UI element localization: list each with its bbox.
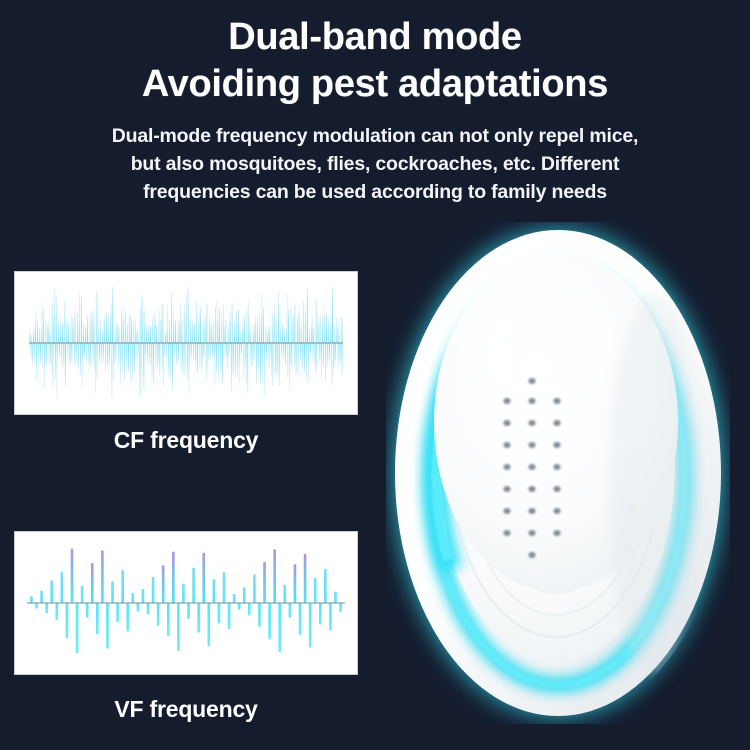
- cf-spike: [139, 343, 140, 396]
- cf-frequency-waveform-card: [14, 271, 358, 415]
- cf-spike: [53, 343, 54, 387]
- cf-spike: [140, 306, 141, 343]
- cf-spike: [207, 304, 208, 343]
- vf-bar: [329, 603, 332, 630]
- cf-spike: [32, 343, 33, 367]
- cf-spike: [63, 343, 64, 365]
- cf-spike: [288, 343, 289, 378]
- cf-spike: [223, 303, 224, 343]
- vf-bar: [299, 603, 302, 635]
- cf-spike: [212, 343, 213, 357]
- grille-dot: [503, 486, 510, 492]
- cf-spike: [258, 343, 259, 368]
- cf-spike: [263, 308, 264, 343]
- cf-spike: [281, 343, 282, 357]
- cf-spike: [255, 324, 256, 343]
- cf-spike: [155, 315, 156, 343]
- cf-spike: [280, 329, 281, 343]
- cf-spike: [299, 315, 300, 343]
- cf-spike: [219, 308, 220, 343]
- cf-spike: [59, 343, 60, 356]
- cf-spike: [107, 343, 108, 366]
- cf-spike: [61, 343, 62, 366]
- cf-spike: [83, 343, 84, 360]
- cf-spike: [301, 325, 302, 343]
- cf-spike: [48, 321, 49, 343]
- cf-spike: [228, 323, 229, 343]
- cf-spike: [72, 343, 73, 362]
- cf-spike: [74, 343, 75, 365]
- cf-spike: [241, 343, 242, 354]
- grille-dot: [528, 398, 535, 404]
- cf-spike: [258, 343, 259, 375]
- cf-spike: [317, 343, 318, 371]
- cf-spike: [41, 330, 42, 343]
- cf-spike: [148, 329, 149, 343]
- cf-spike: [35, 311, 36, 343]
- cf-spike: [326, 313, 327, 343]
- cf-spike: [248, 302, 249, 343]
- cf-spike: [31, 343, 32, 359]
- cf-spike: [339, 323, 340, 343]
- vf-bar: [111, 581, 114, 603]
- cf-spike: [216, 343, 217, 372]
- cf-spike: [232, 303, 233, 343]
- cf-spike: [196, 343, 197, 371]
- grille-dot: [553, 486, 560, 492]
- vf-bar: [177, 603, 180, 651]
- cf-spike: [79, 293, 80, 343]
- cf-spike: [330, 326, 331, 343]
- cf-spike: [82, 343, 83, 389]
- cf-spike: [291, 307, 292, 343]
- cf-spike: [128, 343, 129, 371]
- cf-spike: [201, 343, 202, 372]
- grille-dot: [553, 398, 560, 404]
- vf-bar: [30, 596, 33, 603]
- cf-spike: [284, 327, 285, 343]
- cf-spike: [72, 317, 73, 343]
- cf-spike: [271, 343, 272, 376]
- cf-spike: [83, 323, 84, 343]
- cf-spike: [294, 343, 295, 367]
- cf-spike: [115, 329, 116, 343]
- cf-spike: [46, 343, 47, 365]
- cf-spike: [290, 343, 291, 367]
- cf-spike: [207, 343, 208, 370]
- grille-dot: [503, 464, 510, 470]
- grille-dot: [503, 442, 510, 448]
- cf-spike: [323, 343, 324, 368]
- grille-dot: [503, 508, 510, 514]
- cf-spike: [117, 325, 118, 343]
- cf-spike: [52, 304, 53, 343]
- cf-spike: [148, 324, 149, 343]
- cf-spike: [328, 343, 329, 363]
- cf-spike: [56, 296, 57, 343]
- cf-spike: [111, 304, 112, 343]
- subcopy-paragraph: Dual-mode frequency modulation can not o…: [45, 122, 705, 206]
- cf-spike: [283, 343, 284, 359]
- cf-spike: [242, 327, 243, 343]
- cf-spike: [211, 326, 212, 343]
- cf-spike: [342, 318, 343, 343]
- cf-spike: [76, 343, 77, 362]
- cf-spike: [116, 343, 117, 363]
- cf-spike: [172, 343, 173, 390]
- cf-spike: [189, 343, 190, 365]
- cf-spike: [153, 343, 154, 384]
- cf-spike: [108, 314, 109, 343]
- cf-spike: [124, 343, 125, 379]
- cf-spike: [57, 343, 58, 357]
- cf-spike: [211, 323, 212, 343]
- cf-spike: [75, 343, 76, 364]
- cf-spike: [208, 343, 209, 360]
- vf-bar: [55, 603, 58, 620]
- vf-bar: [76, 603, 79, 653]
- vf-bar: [172, 552, 175, 603]
- vf-bar: [61, 572, 64, 603]
- cf-spike: [179, 320, 180, 343]
- cf-spike: [55, 343, 56, 380]
- cf-spike: [164, 343, 165, 356]
- cf-spike: [188, 287, 189, 343]
- cf-spike: [58, 322, 59, 343]
- cf-spike: [152, 343, 153, 380]
- cf-spike: [170, 343, 171, 379]
- cf-spike: [192, 321, 193, 343]
- cf-spike: [300, 343, 301, 360]
- cf-spike: [210, 343, 211, 361]
- cf-spike: [200, 307, 201, 343]
- grille-dot: [528, 486, 535, 492]
- cf-spike: [245, 343, 246, 366]
- vf-bar: [238, 603, 241, 610]
- cf-frequency-label: CF frequency: [14, 427, 358, 454]
- cf-spike: [126, 343, 127, 371]
- vf-frequency-label: VF frequency: [14, 696, 358, 723]
- cf-spike: [174, 343, 175, 358]
- cf-spike: [202, 343, 203, 366]
- cf-spike: [257, 316, 258, 343]
- vf-bar: [202, 553, 205, 603]
- cf-spike: [227, 343, 228, 369]
- cf-spike: [68, 323, 69, 343]
- vf-bar: [96, 603, 99, 634]
- cf-spike: [181, 320, 182, 343]
- vf-bar: [66, 603, 69, 638]
- cf-spike: [109, 343, 110, 362]
- vf-bar: [283, 585, 286, 603]
- cf-spike: [255, 314, 256, 343]
- cf-spike: [142, 298, 143, 343]
- cf-spike: [121, 310, 122, 343]
- cf-spike: [322, 316, 323, 343]
- cf-spike: [309, 329, 310, 343]
- cf-spike: [250, 343, 251, 363]
- vf-bar: [223, 572, 226, 603]
- grille-dot: [503, 530, 510, 536]
- cf-spike: [38, 343, 39, 374]
- cf-spike: [184, 304, 185, 343]
- cf-spike: [167, 304, 168, 343]
- cf-spike: [161, 304, 162, 343]
- cf-spike: [64, 343, 65, 374]
- cf-spike: [105, 313, 106, 343]
- cf-spike: [119, 326, 120, 343]
- vf-bar: [243, 587, 246, 603]
- cf-spike: [136, 332, 137, 343]
- cf-spike: [175, 320, 176, 343]
- vf-bar: [278, 603, 281, 652]
- cf-spike: [36, 343, 37, 379]
- ultrasonic-pest-repeller-device: [386, 222, 730, 724]
- cf-spike: [321, 343, 322, 378]
- vf-bar: [147, 603, 150, 614]
- vf-bar: [131, 593, 134, 603]
- vf-bar: [126, 603, 129, 632]
- cf-spike: [289, 343, 290, 390]
- cf-spike: [230, 311, 231, 343]
- cf-spike: [299, 306, 300, 343]
- vf-bar: [40, 590, 43, 603]
- cf-spike: [305, 314, 306, 343]
- cf-spike: [313, 326, 314, 343]
- cf-spike: [319, 343, 320, 362]
- cf-spike: [69, 343, 70, 365]
- cf-spike: [80, 343, 81, 376]
- vf-bar: [116, 603, 119, 622]
- cf-spike: [130, 309, 131, 343]
- vf-bar: [162, 565, 165, 603]
- cf-spike: [141, 343, 142, 398]
- cf-spike: [288, 309, 289, 343]
- header-block: Dual-band mode Avoiding pest adaptations…: [0, 0, 750, 206]
- cf-spike: [178, 343, 179, 361]
- cf-spike: [341, 316, 342, 343]
- cf-spike: [110, 314, 111, 343]
- cf-spike: [335, 325, 336, 343]
- cf-spike: [44, 343, 45, 388]
- vf-bar: [319, 603, 322, 625]
- cf-spike: [334, 343, 335, 368]
- cf-spike: [183, 343, 184, 369]
- cf-spike: [134, 321, 135, 343]
- cf-spike: [279, 343, 280, 386]
- cf-spike: [306, 302, 307, 343]
- cf-spike: [97, 293, 98, 343]
- cf-spike: [53, 315, 54, 343]
- cf-spike: [297, 316, 298, 343]
- cf-spike: [173, 308, 174, 343]
- cf-spike: [251, 343, 252, 367]
- cf-spike: [34, 343, 35, 363]
- vf-bar: [309, 603, 312, 648]
- cf-spike: [112, 343, 113, 399]
- vf-bar: [71, 549, 74, 603]
- cf-spike: [194, 323, 195, 343]
- cf-spike: [45, 343, 46, 367]
- vf-bar: [45, 603, 48, 613]
- cf-spike: [158, 343, 159, 364]
- grille-dot: [528, 552, 535, 558]
- cf-spike: [203, 322, 204, 343]
- cf-spike: [307, 288, 308, 343]
- cf-spike: [120, 343, 121, 384]
- vf-bar: [86, 603, 89, 618]
- vf-bar: [268, 603, 271, 640]
- cf-spike: [177, 343, 178, 362]
- cf-spike: [68, 343, 69, 358]
- cf-spike: [98, 328, 99, 343]
- cf-spike: [252, 343, 253, 366]
- cf-spike: [78, 343, 79, 370]
- grille-dot: [553, 508, 560, 514]
- vf-bar: [35, 603, 38, 609]
- cf-spike: [60, 326, 61, 343]
- cf-spike: [57, 343, 58, 400]
- cf-spike: [256, 343, 257, 384]
- cf-spike: [327, 343, 328, 369]
- cf-spike: [67, 321, 68, 343]
- cf-spike: [71, 314, 72, 343]
- cf-spike: [229, 319, 230, 343]
- cf-spike: [116, 321, 117, 343]
- cf-spike: [309, 343, 310, 360]
- vf-bar: [289, 603, 292, 618]
- cf-spike: [39, 343, 40, 355]
- grille-dot: [553, 442, 560, 448]
- cf-spike: [237, 343, 238, 378]
- cf-spike: [29, 329, 30, 343]
- vf-frequency-waveform-card: [14, 531, 358, 675]
- cf-spike: [209, 318, 210, 343]
- grille-dot: [528, 464, 535, 470]
- cf-spike: [135, 320, 136, 343]
- cf-spike: [251, 328, 252, 343]
- cf-spike: [277, 343, 278, 374]
- vf-bar: [167, 603, 170, 636]
- cf-spike: [186, 292, 187, 343]
- cf-spike: [134, 343, 135, 373]
- cf-spike: [253, 325, 254, 343]
- cf-spike: [130, 343, 131, 382]
- cf-spike: [191, 343, 192, 359]
- cf-spike: [137, 329, 138, 343]
- cf-spike: [189, 343, 190, 393]
- cf-spike: [30, 343, 31, 354]
- cf-spike: [262, 293, 263, 343]
- cf-spike: [133, 343, 134, 370]
- cf-spike: [243, 319, 244, 343]
- cf-spike: [167, 332, 168, 343]
- cf-spike: [33, 329, 34, 343]
- vf-bar: [152, 577, 155, 603]
- cf-spike: [101, 343, 102, 364]
- grille-dot: [553, 464, 560, 470]
- cf-spike: [213, 322, 214, 343]
- cf-spike: [333, 343, 334, 378]
- cf-spike: [200, 343, 201, 367]
- vf-bar: [142, 589, 145, 603]
- cf-spike: [259, 315, 260, 343]
- grille-dot: [553, 530, 560, 536]
- cf-spike: [233, 343, 234, 376]
- cf-spike: [102, 330, 103, 343]
- cf-spike: [113, 343, 114, 381]
- vf-bar-group: [30, 549, 342, 654]
- grille-dot: [528, 378, 535, 384]
- cf-spike: [335, 343, 336, 362]
- cf-spike: [316, 298, 317, 343]
- cf-spike: [312, 317, 313, 343]
- cf-spike: [214, 343, 215, 358]
- device-highlight: [458, 286, 614, 398]
- cf-spike: [90, 314, 91, 343]
- vf-bar: [314, 578, 317, 603]
- cf-spike: [187, 343, 188, 380]
- vf-bar: [101, 550, 104, 603]
- vf-bar: [106, 603, 109, 649]
- cf-spike: [49, 343, 50, 366]
- cf-spike: [236, 309, 237, 343]
- cf-spike: [193, 343, 194, 360]
- cf-spike: [93, 343, 94, 362]
- vf-bar: [228, 603, 231, 629]
- cf-spike: [86, 343, 87, 364]
- vf-bar: [263, 562, 266, 603]
- cf-spike: [235, 343, 236, 378]
- cf-spike: [50, 329, 51, 343]
- cf-spike: [218, 319, 219, 343]
- cf-spike: [292, 317, 293, 343]
- cf-spike: [96, 291, 97, 343]
- cf-spike: [125, 310, 126, 343]
- cf-spike: [264, 343, 265, 396]
- cf-spike: [317, 312, 318, 343]
- device-side-shadow: [608, 294, 700, 674]
- cf-spike: [180, 304, 181, 343]
- cf-spike: [170, 343, 171, 378]
- cf-spike: [220, 343, 221, 370]
- cf-spike: [84, 343, 85, 356]
- cf-spike: [221, 343, 222, 378]
- cf-spike: [42, 302, 43, 343]
- cf-spike: [338, 343, 339, 369]
- cf-spike: [336, 318, 337, 343]
- cf-spike: [92, 312, 93, 343]
- cf-spike: [129, 315, 130, 343]
- cf-spike: [218, 343, 219, 382]
- cf-spike: [165, 331, 166, 343]
- cf-spike: [35, 323, 36, 343]
- cf-spike: [171, 291, 172, 343]
- cf-spike: [244, 316, 245, 343]
- cf-spike: [81, 297, 82, 343]
- cf-spike: [332, 287, 333, 343]
- cf-spike: [159, 343, 160, 376]
- cf-spike: [99, 343, 100, 364]
- cf-spike: [198, 319, 199, 343]
- vf-bar: [81, 586, 84, 603]
- cf-spike: [61, 318, 62, 343]
- cf-spike: [273, 343, 274, 386]
- cf-spike: [269, 325, 270, 343]
- cf-spike: [342, 343, 343, 376]
- page-title-line-1: Dual-band mode: [0, 14, 750, 61]
- cf-spike: [310, 343, 311, 355]
